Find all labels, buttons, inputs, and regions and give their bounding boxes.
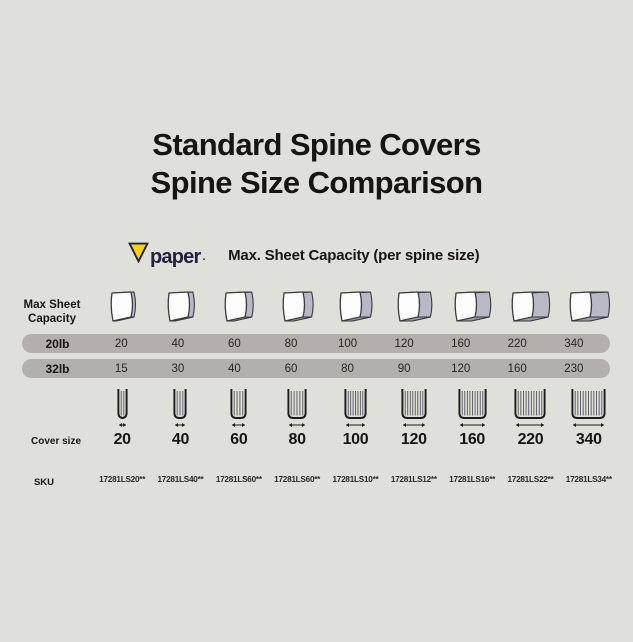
title-line-2: Spine Size Comparison (0, 164, 633, 202)
cover-illustration-cell (443, 277, 501, 329)
cover-illustration-cell (93, 277, 151, 329)
capacity-cell-32lb: 80 (319, 363, 376, 375)
capacity-cell-20lb: 340 (546, 338, 603, 350)
logo-wordmark: paper (150, 247, 200, 267)
cover-size-value: 40 (151, 431, 209, 449)
sku-value: 17281LS34** (560, 475, 618, 484)
sku-value: 17281LS10** (326, 475, 384, 484)
capacity-cell-32lb: 40 (206, 363, 263, 375)
capacity-cell-32lb: 30 (150, 363, 207, 375)
capacity-cell-32lb: 160 (489, 363, 546, 375)
cover-illustration-row (93, 277, 618, 329)
capacity-cell-20lb: 220 (489, 338, 546, 350)
spine-illustration-cell (501, 388, 559, 430)
max-sheet-capacity-label-line1: Max Sheet (14, 298, 90, 312)
capacity-cell-20lb: 120 (376, 338, 433, 350)
capacity-cell-20lb: 100 (319, 338, 376, 350)
capacity-cell-32lb: 230 (546, 363, 603, 375)
cover-illustration-cell (385, 277, 443, 329)
cover-size-value: 100 (326, 431, 384, 449)
title-line-1: Standard Spine Covers (0, 126, 633, 164)
cover-size-row: 20406080100120160220340 (93, 431, 618, 449)
cover-size-value: 160 (443, 431, 501, 449)
cover-illustration-cell (210, 277, 268, 329)
capacity-cell-20lb: 80 (263, 338, 320, 350)
capacity-cell-20lb: 160 (432, 338, 489, 350)
cover-illustration-cell (268, 277, 326, 329)
sku-value: 17281LS40** (151, 475, 209, 484)
cover-illustration-cell (560, 277, 618, 329)
sku-value: 17281LS22** (501, 475, 559, 484)
cover-size-value: 340 (560, 431, 618, 449)
sku-label: SKU (18, 477, 70, 488)
sku-value: 17281LS60** (210, 475, 268, 484)
cover-illustration-cell (501, 277, 559, 329)
cover-size-value: 120 (385, 431, 443, 449)
capacity-cell-20lb: 40 (150, 338, 207, 350)
capacity-row-32lb-values: 153040608090120160230 (93, 363, 610, 375)
vpaper-logo: paper · (128, 242, 206, 268)
capacity-cell-32lb: 15 (93, 363, 150, 375)
max-sheet-capacity-label: Max Sheet Capacity (14, 298, 90, 326)
sku-value: 17281LS20** (93, 475, 151, 484)
brand-and-subtitle: paper · Max. Sheet Capacity (per spine s… (128, 242, 479, 268)
spine-illustration-cell (443, 388, 501, 430)
spine-illustration-cell (560, 388, 618, 430)
sku-value: 17281LS60** (268, 475, 326, 484)
capacity-cell-20lb: 60 (206, 338, 263, 350)
spine-illustration-row (93, 388, 618, 430)
capacity-cell-32lb: 120 (432, 363, 489, 375)
cover-size-value: 20 (93, 431, 151, 449)
logo-v-icon (128, 242, 149, 268)
capacity-cell-20lb: 20 (93, 338, 150, 350)
capacity-row-32lb-key: 32lb (22, 362, 93, 376)
capacity-row-20lb-key: 20lb (22, 337, 93, 351)
cover-illustration-cell (151, 277, 209, 329)
capacity-row-32lb: 32lb 153040608090120160230 (22, 359, 610, 378)
spine-illustration-cell (385, 388, 443, 430)
capacity-row-20lb: 20lb 20406080100120160220340 (22, 334, 610, 353)
cover-size-label: Cover size (18, 436, 94, 447)
max-sheet-capacity-label-line2: Capacity (14, 312, 90, 326)
sku-value: 17281LS16** (443, 475, 501, 484)
cover-size-value: 80 (268, 431, 326, 449)
sku-row: 17281LS20**17281LS40**17281LS60**17281LS… (93, 475, 618, 484)
spine-illustration-cell (93, 388, 151, 430)
page-title: Standard Spine Covers Spine Size Compari… (0, 126, 633, 202)
subtitle: Max. Sheet Capacity (per spine size) (228, 247, 479, 264)
spine-illustration-cell (268, 388, 326, 430)
spine-illustration-cell (326, 388, 384, 430)
spine-illustration-cell (151, 388, 209, 430)
spine-illustration-cell (210, 388, 268, 430)
spine-comparison-infographic: Standard Spine Covers Spine Size Compari… (0, 0, 633, 642)
capacity-cell-32lb: 90 (376, 363, 433, 375)
cover-size-value: 60 (210, 431, 268, 449)
logo-trademark: · (202, 255, 206, 266)
cover-illustration-cell (326, 277, 384, 329)
capacity-cell-32lb: 60 (263, 363, 320, 375)
cover-size-value: 220 (501, 431, 559, 449)
capacity-row-20lb-values: 20406080100120160220340 (93, 338, 610, 350)
sku-value: 17281LS12** (385, 475, 443, 484)
